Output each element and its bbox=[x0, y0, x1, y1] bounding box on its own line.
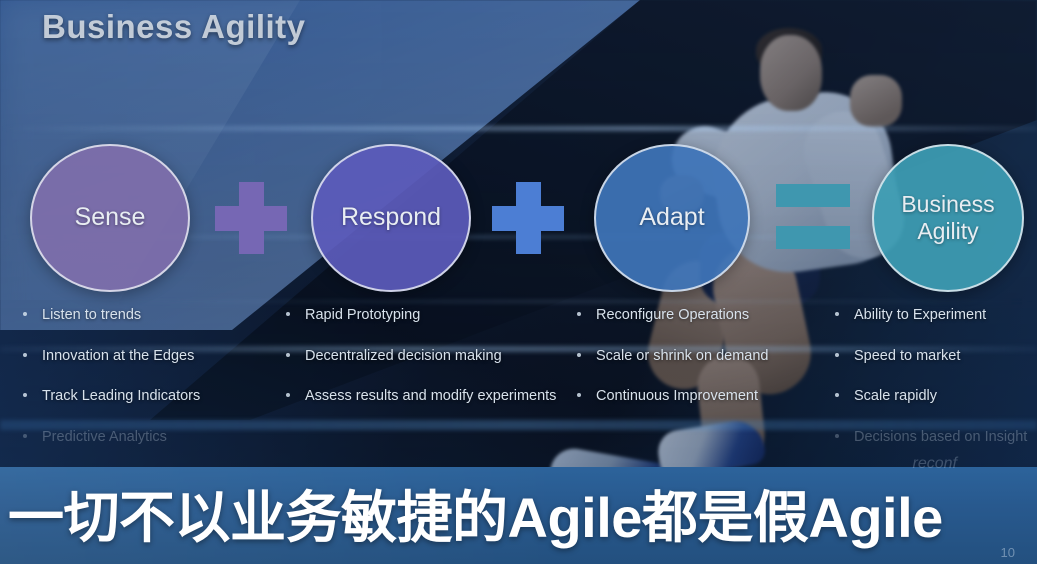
motion-streak bbox=[0, 126, 1037, 131]
list-item: Scale rapidly bbox=[830, 387, 1037, 406]
plus-operator-2-icon bbox=[492, 182, 564, 254]
business-agility-node-label: Business Agility bbox=[901, 191, 994, 245]
plus-operator-1-icon bbox=[215, 182, 287, 254]
respond-node[interactable]: Respond bbox=[311, 144, 471, 292]
list-item: Speed to market bbox=[830, 347, 1037, 366]
equals-bar-top bbox=[776, 184, 850, 207]
list-item: Innovation at the Edges bbox=[18, 347, 278, 366]
list-item: Scale or shrink on demand bbox=[572, 347, 827, 366]
list-item: Decentralized decision making bbox=[281, 347, 571, 366]
respond-node-label: Respond bbox=[341, 203, 441, 233]
motion-streak bbox=[0, 300, 1037, 303]
plus-bar-vertical bbox=[516, 182, 541, 254]
page-title: Business Agility bbox=[42, 8, 306, 46]
background-ghost-text: reconf bbox=[913, 455, 957, 473]
list-item: Track Leading Indicators bbox=[18, 387, 278, 406]
sense-node[interactable]: Sense bbox=[30, 144, 190, 292]
adapt-node[interactable]: Adapt bbox=[594, 144, 750, 292]
agility-equation-diagram: Sense Respond Adapt Business Agility bbox=[0, 142, 1037, 294]
list-item: Predictive Analytics bbox=[18, 428, 278, 447]
equals-operator-icon bbox=[776, 184, 850, 252]
column-respond: Rapid Prototyping Decentralized decision… bbox=[281, 306, 571, 428]
list-item: Decisions based on Insight bbox=[830, 428, 1037, 447]
plus-bar-vertical bbox=[239, 182, 264, 254]
equals-bar-bottom bbox=[776, 226, 850, 249]
caption-band: reconf 一切不以业务敏捷的Agile都是假Agile 10 bbox=[0, 467, 1037, 564]
caption-text: 一切不以业务敏捷的Agile都是假Agile bbox=[8, 473, 1030, 554]
column-sense: Listen to trends Innovation at the Edges… bbox=[18, 306, 278, 468]
list-item: Reconfigure Operations bbox=[572, 306, 827, 325]
business-agility-node[interactable]: Business Agility bbox=[872, 144, 1024, 292]
list-item: Rapid Prototyping bbox=[281, 306, 571, 325]
list-item: Assess results and modify experiments bbox=[281, 387, 571, 406]
business-agility-line-1: Business bbox=[901, 191, 994, 217]
list-item: Continuous Improvement bbox=[572, 387, 827, 406]
business-agility-line-2: Agility bbox=[917, 218, 978, 244]
list-item: Listen to trends bbox=[18, 306, 278, 325]
sense-node-label: Sense bbox=[75, 203, 146, 233]
column-adapt: Reconfigure Operations Scale or shrink o… bbox=[572, 306, 827, 428]
page-number: 10 bbox=[1001, 545, 1015, 560]
list-item: Ability to Experiment bbox=[830, 306, 1037, 325]
slide-canvas: Business Agility Sense Respond Adapt Bus… bbox=[0, 0, 1037, 564]
bullet-columns: Listen to trends Innovation at the Edges… bbox=[0, 306, 1037, 476]
adapt-node-label: Adapt bbox=[639, 203, 704, 233]
column-business-agility: Ability to Experiment Speed to market Sc… bbox=[830, 306, 1037, 468]
